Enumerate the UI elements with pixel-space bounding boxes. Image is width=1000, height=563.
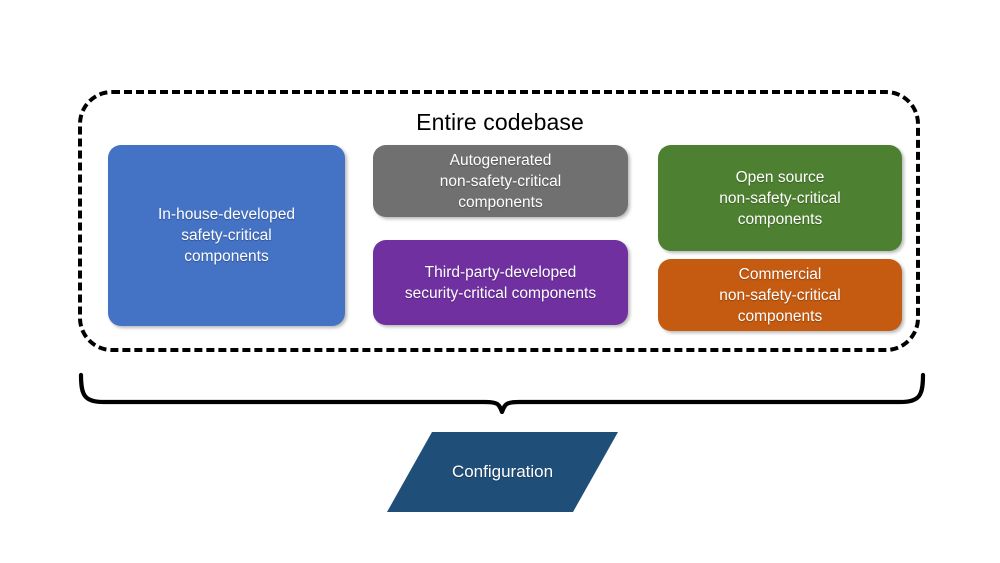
entire-codebase-title: Entire codebase: [0, 108, 1000, 137]
component-box-commercial-non-safety-critical[interactable]: Commercial non-safety-critical component…: [658, 259, 902, 331]
component-box-third-party-developed-security-critical[interactable]: Third-party-developed security-critical …: [373, 240, 628, 325]
component-box-label: Third-party-developed security-critical …: [383, 262, 618, 304]
diagram-canvas: Entire codebase In-house-developed safet…: [0, 0, 1000, 563]
component-box-label: Autogenerated non-safety-critical compon…: [383, 150, 618, 213]
component-box-open-source-non-safety-critical[interactable]: Open source non-safety-critical componen…: [658, 145, 902, 251]
configuration-shape[interactable]: [380, 426, 625, 518]
component-box-autogenerated-non-safety-critical[interactable]: Autogenerated non-safety-critical compon…: [373, 145, 628, 217]
curly-brace-connector: [70, 362, 930, 414]
component-box-label: Open source non-safety-critical componen…: [668, 167, 892, 230]
curly-brace-icon: [70, 362, 930, 414]
component-box-label: Commercial non-safety-critical component…: [668, 264, 892, 327]
component-box-label: In-house-developed safety-critical compo…: [118, 204, 335, 267]
parallelogram-icon: [380, 426, 625, 518]
component-box-in-house-developed-safety-critical[interactable]: In-house-developed safety-critical compo…: [108, 145, 345, 326]
